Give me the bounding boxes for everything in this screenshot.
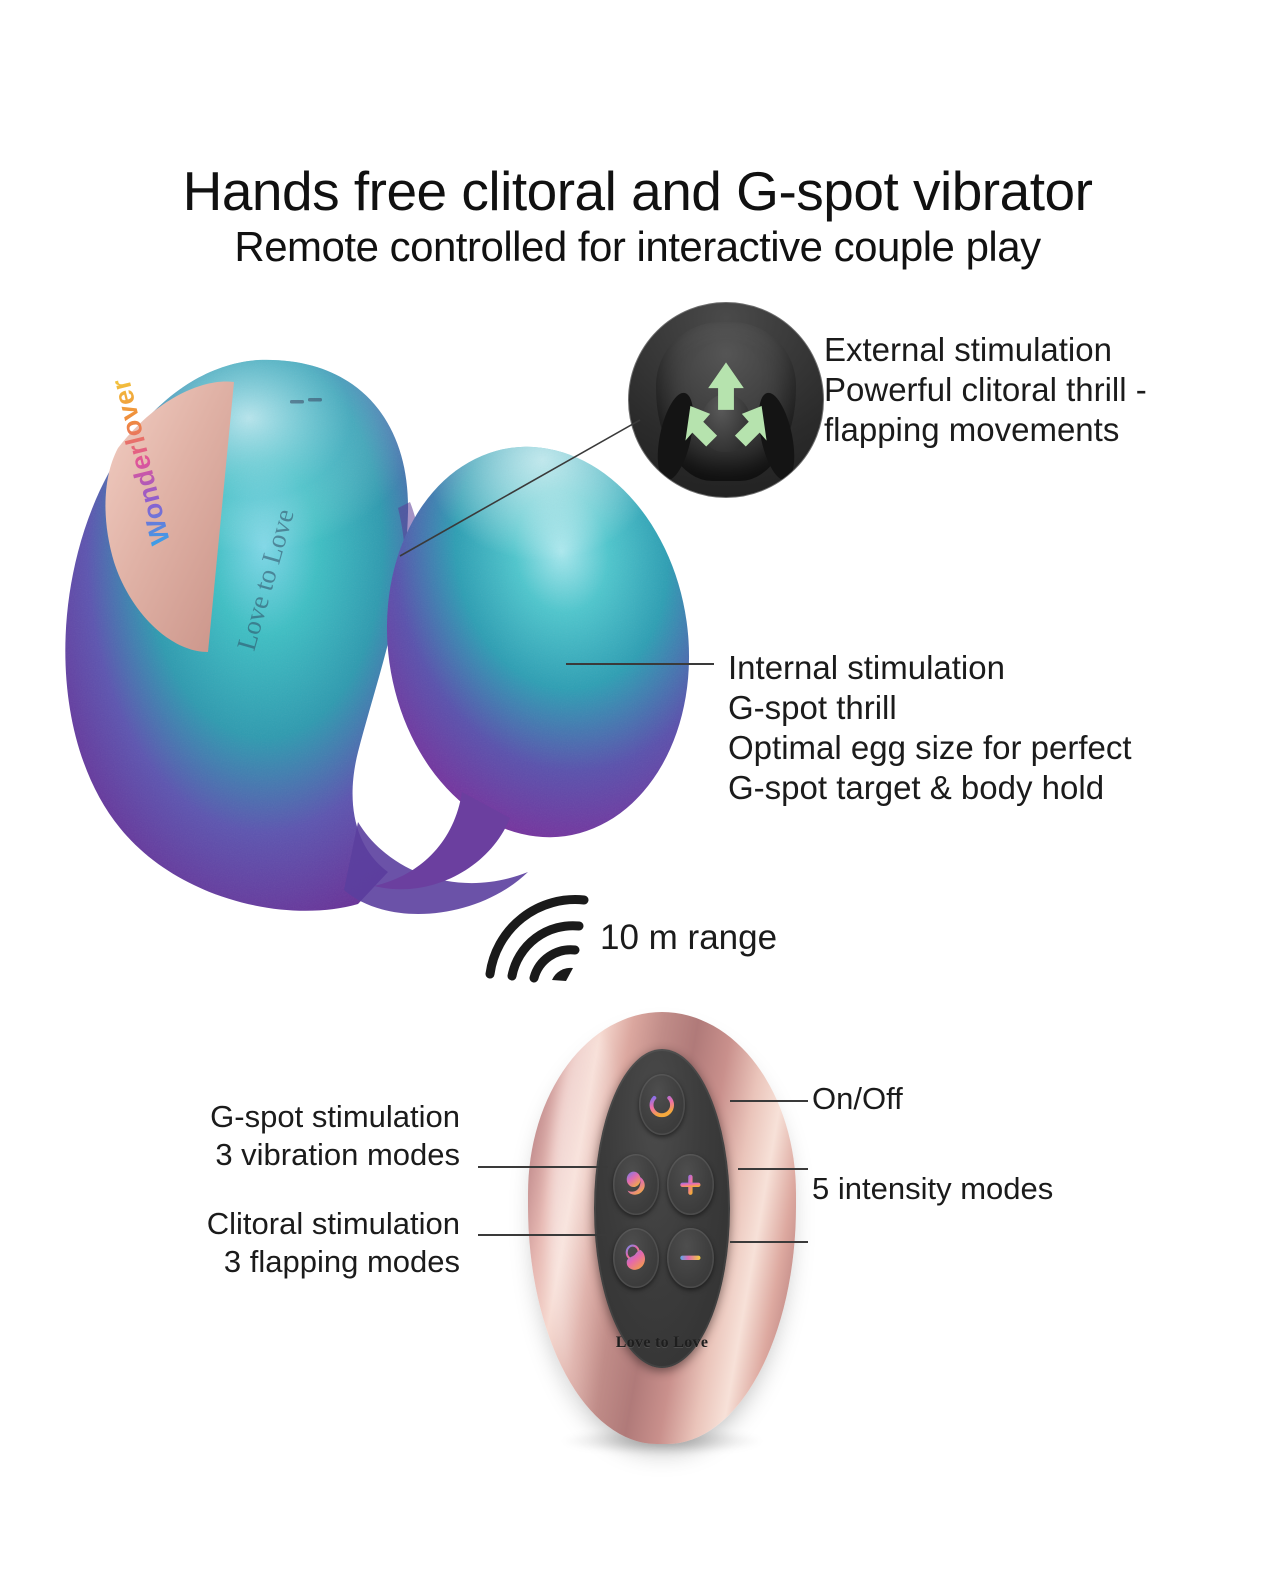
power-icon <box>646 1084 678 1125</box>
wifi-signal-icon <box>478 888 598 983</box>
infographic-canvas: Hands free clitoral and G-spot vibrator … <box>0 0 1275 1575</box>
range-label: 10 m range <box>600 918 777 958</box>
callout-internal-stimulation: Internal stimulation G-spot thrill Optim… <box>728 648 1132 808</box>
gspot-mode-icon <box>619 1162 653 1207</box>
flapping-head-detail-inset <box>628 302 824 498</box>
gspot-mode-button[interactable] <box>613 1154 659 1215</box>
clitoral-mode-button[interactable] <box>613 1228 659 1289</box>
plus-icon <box>676 1166 705 1204</box>
remote-brand-text: Love to Love <box>594 1334 731 1352</box>
minus-icon <box>676 1239 705 1277</box>
product-device-image: Wonderlover Love to Love <box>58 352 698 972</box>
leader-line-minus <box>730 1241 808 1243</box>
flapping-arrows-icon <box>629 303 823 497</box>
label-gspot-stimulation: G-spot stimulation 3 vibration modes <box>210 1098 460 1174</box>
leader-line-clitoral <box>478 1234 608 1236</box>
label-on-off: On/Off <box>812 1080 903 1118</box>
page-title: Hands free clitoral and G-spot vibrator <box>0 160 1275 222</box>
leader-line-internal <box>566 663 714 665</box>
remote-face-panel: Love to Love <box>594 1049 731 1369</box>
power-button[interactable] <box>639 1074 685 1135</box>
leader-line-onoff <box>730 1100 808 1102</box>
leader-line-intensity <box>738 1168 808 1170</box>
page-subtitle: Remote controlled for interactive couple… <box>0 222 1275 272</box>
callout-external-stimulation: External stimulation Powerful clitoral t… <box>824 330 1147 450</box>
remote-control: Love to Love <box>528 1012 796 1444</box>
label-clitoral-stimulation: Clitoral stimulation 3 flapping modes <box>207 1205 460 1281</box>
minus-button[interactable] <box>667 1228 713 1289</box>
clitoral-mode-icon <box>619 1236 653 1281</box>
plus-button[interactable] <box>667 1154 713 1215</box>
label-intensity-modes: 5 intensity modes <box>812 1170 1053 1208</box>
leader-line-gspot <box>478 1166 608 1168</box>
